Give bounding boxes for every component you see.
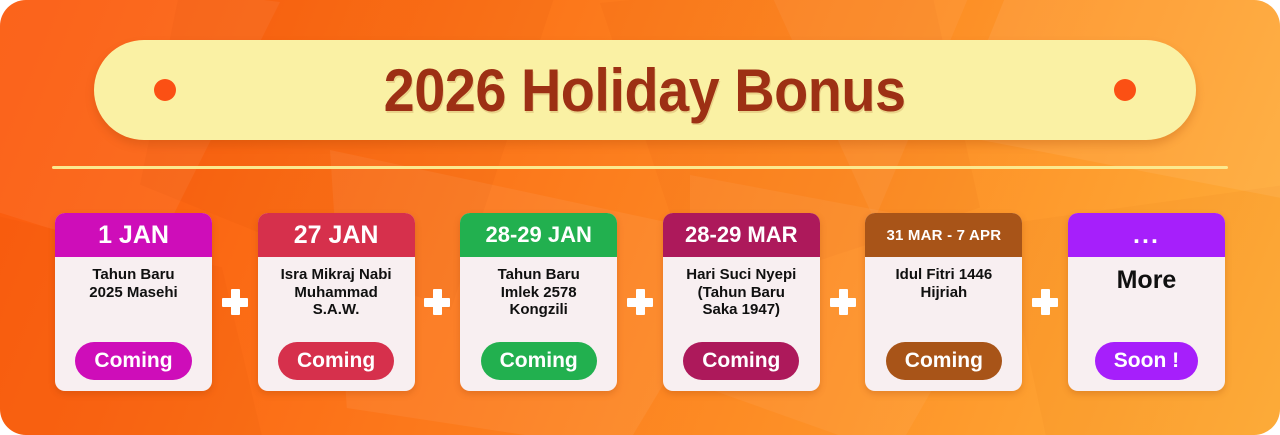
holiday-card-date: 31 MAR - 7 APR <box>865 213 1022 257</box>
holiday-card-date-label: ... <box>1133 223 1160 248</box>
holiday-card-date-label: 27 JAN <box>294 223 379 248</box>
holiday-card-name: Tahun Baru 2025 Masehi <box>89 266 177 301</box>
plus-icon <box>222 289 248 315</box>
plus-icon <box>1032 289 1058 315</box>
holiday-card-date: 28-29 JAN <box>460 213 617 257</box>
holiday-card-date-label: 31 MAR - 7 APR <box>886 228 1001 243</box>
holiday-card-name: Hari Suci Nyepi (Tahun Baru Saka 1947) <box>686 266 796 319</box>
status-badge[interactable]: Coming <box>683 342 799 380</box>
holiday-card-body: MoreSoon ! <box>1068 257 1225 391</box>
status-badge[interactable]: Soon ! <box>1095 342 1198 380</box>
holiday-bonus-poster: 2026 Holiday Bonus 1 JANTahun Baru 2025 … <box>0 0 1280 435</box>
holiday-card[interactable]: 27 JANIsra Mikraj Nabi Muhammad S.A.W.Co… <box>258 213 415 391</box>
holiday-card[interactable]: ...MoreSoon ! <box>1068 213 1225 391</box>
holiday-card[interactable]: 31 MAR - 7 APRIdul Fitri 1446 HijriahCom… <box>865 213 1022 391</box>
holiday-card-body: Idul Fitri 1446 HijriahComing <box>865 257 1022 391</box>
holiday-card-date: 28-29 MAR <box>663 213 820 257</box>
plus-icon <box>424 289 450 315</box>
status-badge[interactable]: Coming <box>481 342 597 380</box>
holiday-card-date-label: 28-29 JAN <box>485 224 591 246</box>
status-badge[interactable]: Coming <box>886 342 1002 380</box>
holiday-card-name: Isra Mikraj Nabi Muhammad S.A.W. <box>281 266 392 319</box>
status-badge[interactable]: Coming <box>75 342 191 380</box>
holiday-card-body: Tahun Baru Imlek 2578 KongziliComing <box>460 257 617 391</box>
title-banner: 2026 Holiday Bonus <box>94 40 1196 140</box>
holiday-card-date-label: 28-29 MAR <box>685 224 797 246</box>
holiday-card[interactable]: 1 JANTahun Baru 2025 MasehiComing <box>55 213 212 391</box>
holiday-card-date-label: 1 JAN <box>98 223 169 248</box>
holiday-cards-row: 1 JANTahun Baru 2025 MasehiComing27 JANI… <box>55 213 1225 391</box>
plus-icon <box>830 289 856 315</box>
holiday-card-date: ... <box>1068 213 1225 257</box>
status-badge[interactable]: Coming <box>278 342 394 380</box>
holiday-card-date: 27 JAN <box>258 213 415 257</box>
holiday-card-name: Tahun Baru Imlek 2578 Kongzili <box>498 266 580 319</box>
holiday-card-name: Idul Fitri 1446 Hijriah <box>896 266 993 301</box>
divider <box>52 166 1228 169</box>
page-title: 2026 Holiday Bonus <box>384 56 906 125</box>
holiday-card-name: More <box>1117 266 1177 296</box>
holiday-card-date: 1 JAN <box>55 213 212 257</box>
banner-dot-left-icon <box>154 79 176 101</box>
holiday-card-body: Isra Mikraj Nabi Muhammad S.A.W.Coming <box>258 257 415 391</box>
holiday-card-body: Hari Suci Nyepi (Tahun Baru Saka 1947)Co… <box>663 257 820 391</box>
plus-icon <box>627 289 653 315</box>
holiday-card-body: Tahun Baru 2025 MasehiComing <box>55 257 212 391</box>
holiday-card[interactable]: 28-29 MARHari Suci Nyepi (Tahun Baru Sak… <box>663 213 820 391</box>
holiday-card[interactable]: 28-29 JANTahun Baru Imlek 2578 KongziliC… <box>460 213 617 391</box>
banner-dot-right-icon <box>1114 79 1136 101</box>
